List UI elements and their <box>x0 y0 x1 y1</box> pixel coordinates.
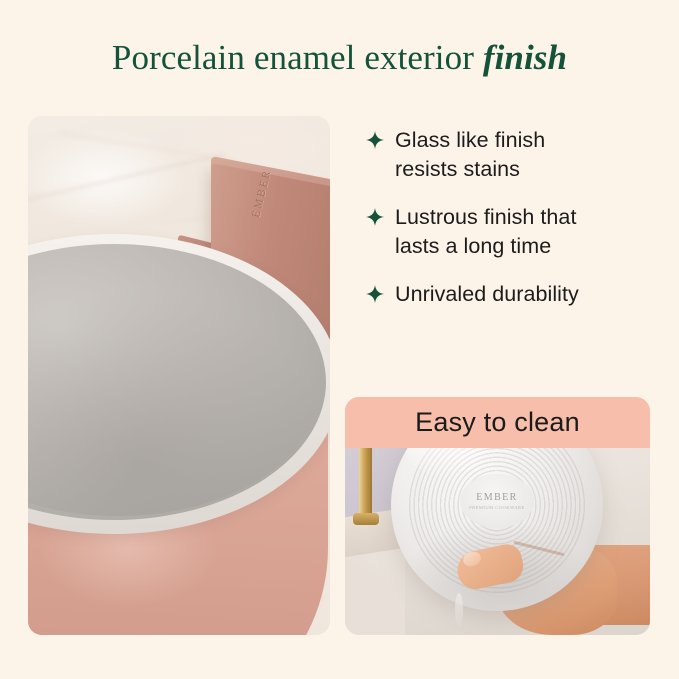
list-item-line1: Lustrous finish that <box>395 205 576 229</box>
list-item-text: Glass like finish resists stains <box>395 126 545 183</box>
list-item-text: Lustrous finish that lasts a long time <box>395 203 576 260</box>
banner-label: Easy to clean <box>415 407 580 438</box>
list-item-line1: Unrivaled durability <box>395 282 579 306</box>
disc-brand-plate: EMBER PREMIUM COOKWARE <box>460 474 534 528</box>
page-title-prefix: Porcelain enamel exterior <box>112 38 483 77</box>
faucet-base <box>353 513 379 525</box>
list-item-line2: resists stains <box>395 157 520 181</box>
marble-vein <box>59 132 237 162</box>
sparkle-star-icon <box>366 285 384 303</box>
feature-list: Glass like finish resists stains Lustrou… <box>366 126 656 309</box>
disc-brand-name: EMBER <box>476 492 517 503</box>
list-item: Lustrous finish that lasts a long time <box>366 203 656 260</box>
sparkle-star-icon <box>366 208 384 226</box>
page-title-accent: finish <box>483 38 567 77</box>
page-title: Porcelain enamel exterior finish <box>0 38 679 78</box>
marble-vein <box>28 152 226 202</box>
list-item-line1: Glass like finish <box>395 128 545 152</box>
pan-detail-photo: EMBER <box>28 116 330 635</box>
list-item: Unrivaled durability <box>366 280 656 309</box>
list-item-line2: lasts a long time <box>395 234 551 258</box>
disc-brand-tagline: PREMIUM COOKWARE <box>469 505 525 510</box>
water-drip <box>455 593 463 627</box>
list-item: Glass like finish resists stains <box>366 126 656 183</box>
easy-to-clean-photo: EMBER PREMIUM COOKWARE Easy to clean <box>345 397 650 635</box>
sparkle-star-icon <box>366 131 384 149</box>
list-item-text: Unrivaled durability <box>395 280 579 309</box>
easy-to-clean-banner: Easy to clean <box>345 397 650 448</box>
